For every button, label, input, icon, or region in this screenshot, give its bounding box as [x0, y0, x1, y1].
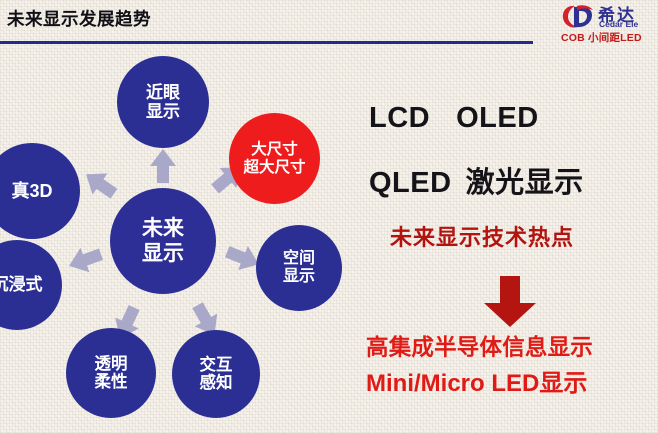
- logo-name-en: Cedar Ele: [599, 19, 638, 29]
- node-center-line-0: 未来: [142, 216, 184, 241]
- node-interactive-sensing-line-1: 感知: [200, 374, 233, 392]
- title-underline-divider: [0, 41, 533, 44]
- slide-canvas: 未来显示发展趋势 希达 Cedar Ele COB 小间距LED: [0, 0, 658, 433]
- node-transparent-flexible-line-0: 透明: [95, 355, 128, 373]
- company-logo: 希达 Cedar Ele COB 小间距LED: [546, 1, 658, 45]
- cedar-cd-monogram-icon: [561, 4, 595, 30]
- down-arrow-icon: [482, 276, 538, 328]
- arrow-upper-left-icon: [79, 164, 122, 205]
- node-spatial-display[interactable]: 空间 显示: [256, 225, 342, 311]
- node-immersive-line-0: 沉浸式: [0, 275, 43, 294]
- node-interactive-sensing[interactable]: 交互 感知: [172, 330, 260, 418]
- technology-lcd: LCD: [369, 102, 430, 134]
- node-center-line-1: 显示: [142, 241, 184, 266]
- technology-oled: OLED: [456, 102, 539, 134]
- technology-laser-display: 激光显示: [466, 167, 584, 199]
- technology-qled: QLED: [369, 167, 452, 199]
- node-interactive-sensing-line-0: 交互: [200, 356, 233, 374]
- arrow-up-icon: [150, 149, 176, 183]
- node-near-eye-display-line-0: 近眼: [146, 83, 180, 102]
- node-transparent-flexible-line-1: 柔性: [95, 373, 128, 391]
- node-true-3d-line-0: 真3D: [11, 181, 52, 201]
- future-display-hub-diagram: 真3D 近眼 显示 大尺寸 超大尺寸 沉浸式 空间 显示 透明 柔性 交互: [0, 48, 350, 433]
- technology-list-row-1: LCDOLED: [369, 102, 539, 135]
- node-large-size-line-0: 大尺寸: [251, 141, 298, 158]
- node-large-size[interactable]: 大尺寸 超大尺寸: [229, 113, 320, 204]
- arrow-left-icon: [65, 242, 106, 278]
- node-near-eye-display[interactable]: 近眼 显示: [117, 56, 209, 148]
- node-spatial-display-line-0: 空间: [283, 250, 315, 268]
- conclusion-line-2: Mini/Micro LED显示: [366, 363, 587, 398]
- node-spatial-display-line-1: 显示: [283, 268, 315, 286]
- technology-list-row-2: QLED激光显示: [369, 159, 584, 201]
- right-content-panel: LCDOLED QLED激光显示 未来显示技术热点 高集成半导体信息显示 Min…: [352, 48, 658, 433]
- node-center-future-display[interactable]: 未来 显示: [110, 188, 216, 294]
- node-transparent-flexible[interactable]: 透明 柔性: [66, 328, 156, 418]
- conclusion-line-1: 高集成半导体信息显示: [366, 330, 593, 362]
- node-large-size-line-1: 超大尺寸: [243, 159, 305, 176]
- node-near-eye-display-line-1: 显示: [146, 102, 180, 121]
- logo-tagline: COB 小间距LED: [561, 30, 642, 45]
- hotspot-heading: 未来显示技术热点: [390, 220, 574, 252]
- page-title: 未来显示发展趋势: [7, 6, 151, 31]
